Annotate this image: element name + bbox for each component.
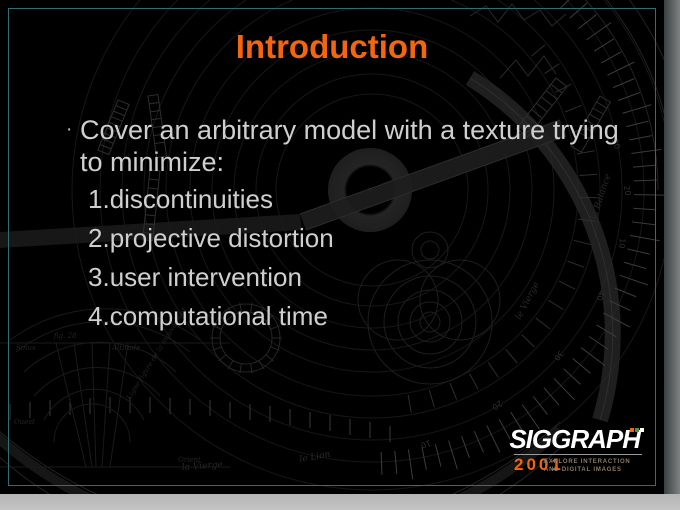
slide-content: Introduction · Cover an arbitrary model … <box>0 0 664 494</box>
list-item-number: 3. <box>88 262 110 292</box>
tagline-line-2: AND DIGITAL IMAGES <box>544 466 642 474</box>
list-item: 4. computational time <box>88 301 626 331</box>
bullet-dot-icon: · <box>66 114 80 146</box>
siggraph-tagline: EXPLORE INTERACTION AND DIGITAL IMAGES <box>544 458 642 474</box>
bullet-item: · Cover an arbitrary model with a textur… <box>66 114 626 178</box>
list-item: 3. user intervention <box>88 262 626 292</box>
bullet-item-text: Cover an arbitrary model with a texture … <box>80 114 626 178</box>
slide-right-shadow <box>664 0 680 494</box>
list-item-label: discontinuities <box>110 184 273 214</box>
accent-square-white <box>640 428 644 432</box>
list-item: 2. projective distortion <box>88 223 626 253</box>
accent-square-green <box>635 428 639 432</box>
list-item-label: projective distortion <box>110 223 334 253</box>
numbered-list: 1. discontinuities 2. projective distort… <box>88 184 626 331</box>
logo-accent-squares <box>630 428 646 435</box>
siggraph-logo: SIGGRAPH 2001 EXPLORE INTERACTION AND DI… <box>496 426 646 480</box>
list-item-label: user intervention <box>110 262 302 292</box>
list-item: 1. discontinuities <box>88 184 626 214</box>
siggraph-wordmark: SIGGRAPH <box>509 426 640 452</box>
page-title: Introduction <box>0 28 664 66</box>
list-item-label: computational time <box>110 301 328 331</box>
list-item-number: 4. <box>88 301 110 331</box>
slide-body: · Cover an arbitrary model with a textur… <box>66 114 626 340</box>
tagline-line-1: EXPLORE INTERACTION <box>544 458 642 466</box>
list-item-number: 1. <box>88 184 110 214</box>
presentation-slide: la Vierge le Lion le Vierge la Balance 3… <box>0 0 664 494</box>
slide-bottom-shadow <box>0 494 680 510</box>
accent-square-orange <box>630 428 634 432</box>
list-item-number: 2. <box>88 223 110 253</box>
